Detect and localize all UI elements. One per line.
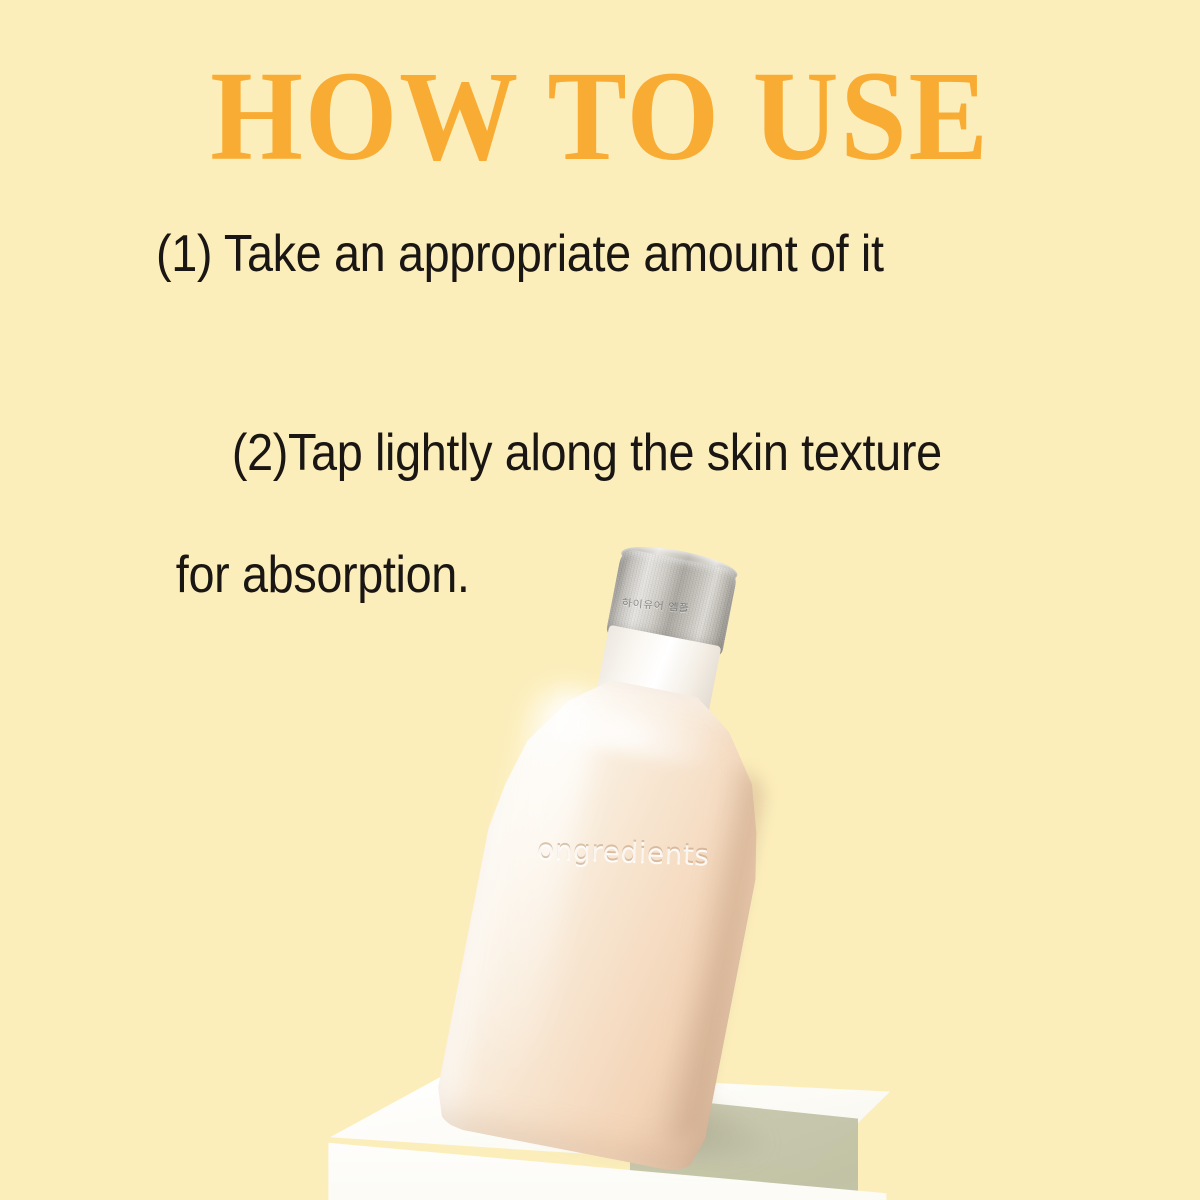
- instruction-step-2-line-1: (2)Tap lightly along the skin texture: [232, 424, 942, 482]
- product-photo: 하이유어 엠플 ongredients: [0, 510, 1200, 1200]
- instruction-step-1: (1) Take an appropriate amount of it: [156, 224, 1020, 285]
- page-title: HOW TO USE: [42, 52, 1158, 180]
- how-to-use-poster: HOW TO USE (1) Take an appropriate amoun…: [0, 0, 1200, 1200]
